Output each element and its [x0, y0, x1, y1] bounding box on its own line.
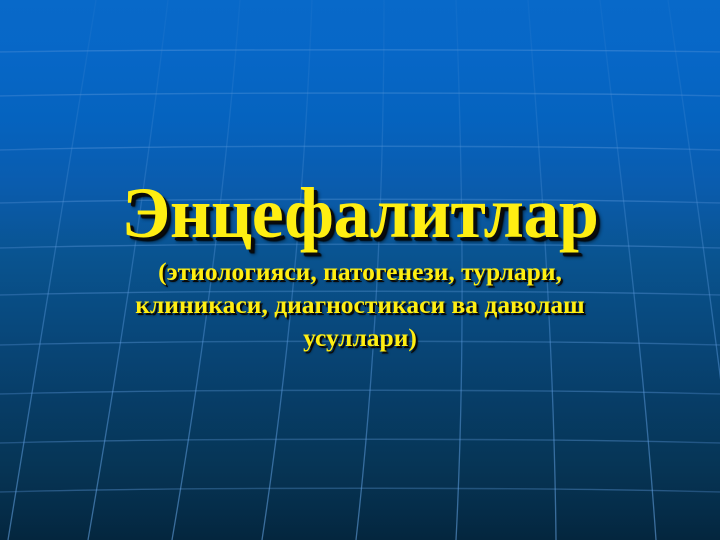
slide-subtitle-line-1: (этиологияси, патогенези, турлари,: [72, 255, 648, 288]
slide-subtitle-line-3: усуллари): [72, 321, 648, 354]
presentation-slide: Энцефалитлар (этиологияси, патогенези, т…: [0, 0, 720, 540]
slide-subtitle: (этиологияси, патогенези, турлари, клини…: [14, 255, 706, 354]
slide-subtitle-line-2: клиникаси, диагностикаси ва даволаш: [72, 288, 648, 321]
slide-text-block: Энцефалитлар (этиологияси, патогенези, т…: [0, 178, 720, 354]
slide-title: Энцефалитлар: [14, 178, 706, 249]
